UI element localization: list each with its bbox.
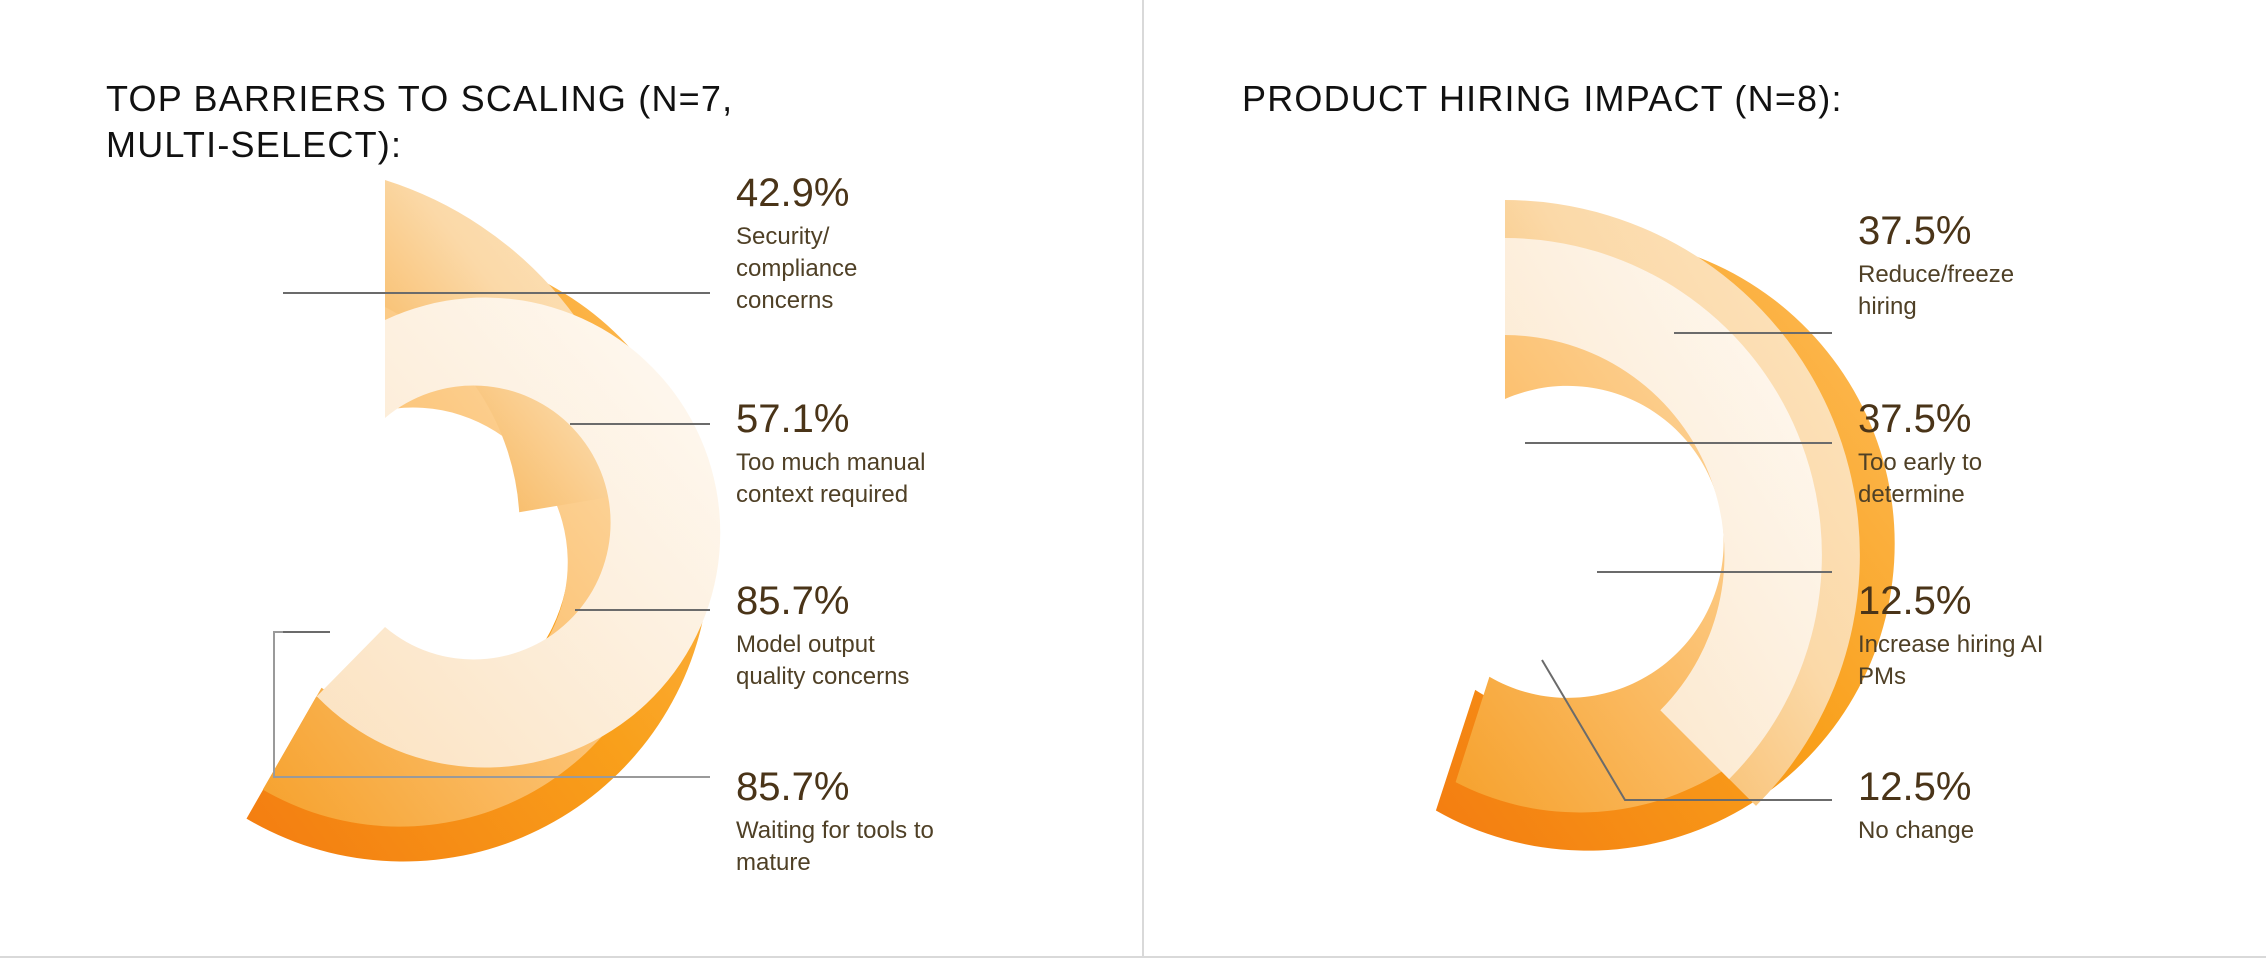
chart-label-3-left: 85.7% Waiting for tools to mature xyxy=(736,766,1056,879)
panel-divider xyxy=(1142,0,1144,956)
panel-product-hiring-impact: PRODUCT HIRING IMPACT (N=8): xyxy=(1142,0,2266,978)
chart-label-0-left: 42.9% Security/ compliance concerns xyxy=(736,172,996,316)
chart-label-2-text-left: Model output quality concerns xyxy=(736,629,1056,692)
panel-top-barriers: TOP BARRIERS TO SCALING (N=7, MULTI-SELE… xyxy=(0,0,1142,978)
chart-label-1-percent-left: 57.1% xyxy=(736,398,1056,441)
chart-label-3-text-left: Waiting for tools to mature xyxy=(736,815,1056,878)
chart-label-1-right: 37.5% Too early to determine xyxy=(1858,398,2158,511)
chart-label-0-percent-left: 42.9% xyxy=(736,172,996,215)
chart-label-1-text-right: Too early to determine xyxy=(1858,447,2158,510)
chart-label-0-text-left: Security/ compliance concerns xyxy=(736,221,996,316)
chart-label-1-left: 57.1% Too much manual context required xyxy=(736,398,1056,511)
chart-label-1-text-left: Too much manual context required xyxy=(736,447,1056,510)
chart-label-3-percent-left: 85.7% xyxy=(736,766,1056,809)
chart-label-2-text-right: Increase hiring AI PMs xyxy=(1858,629,2178,692)
chart-label-2-left: 85.7% Model output quality concerns xyxy=(736,580,1056,693)
chart-label-3-text-right: No change xyxy=(1858,815,2158,847)
chart-label-3-percent-right: 12.5% xyxy=(1858,766,2158,809)
chart-label-1-percent-right: 37.5% xyxy=(1858,398,2158,441)
chart-label-2-percent-left: 85.7% xyxy=(736,580,1056,623)
chart-label-3-right: 12.5% No change xyxy=(1858,766,2158,847)
chart-label-0-text-right: Reduce/freeze hiring xyxy=(1858,259,2158,322)
slide-root: TOP BARRIERS TO SCALING (N=7, MULTI-SELE… xyxy=(0,0,2266,978)
bottom-rule xyxy=(0,956,2266,958)
chart-label-2-right: 12.5% Increase hiring AI PMs xyxy=(1858,580,2178,693)
chart-label-0-percent-right: 37.5% xyxy=(1858,210,2158,253)
chart-label-2-percent-right: 12.5% xyxy=(1858,580,2178,623)
chart-label-0-right: 37.5% Reduce/freeze hiring xyxy=(1858,210,2158,323)
